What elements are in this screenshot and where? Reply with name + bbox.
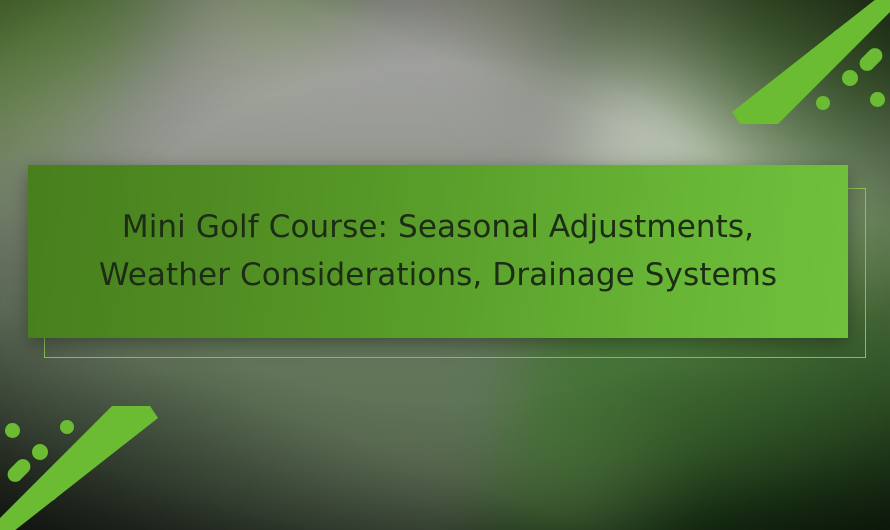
title-slide: Mini Golf Course: Seasonal Adjustments, … <box>0 0 890 530</box>
page-title: Mini Golf Course: Seasonal Adjustments, … <box>59 204 817 298</box>
title-banner: Mini Golf Course: Seasonal Adjustments, … <box>28 165 848 338</box>
